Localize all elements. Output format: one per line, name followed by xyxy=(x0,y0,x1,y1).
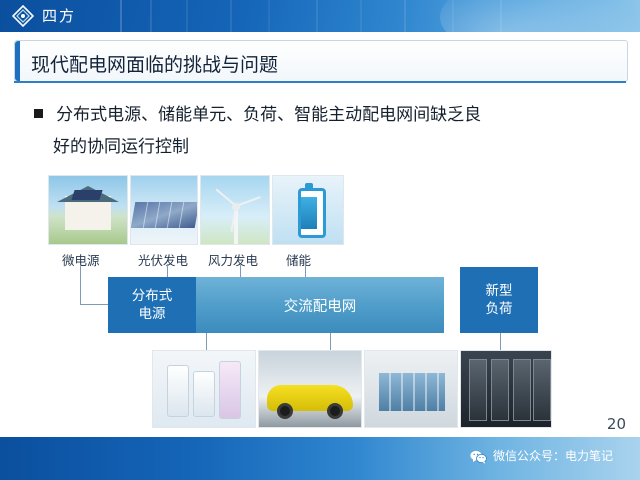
page-number: 20 xyxy=(607,415,626,433)
title-accent-bar xyxy=(15,41,20,81)
bottom-photo-strip xyxy=(152,350,552,428)
connector-wind-down xyxy=(240,264,241,277)
diagram-block-distributed-source: 分布式 电源 xyxy=(108,277,196,333)
diagram-right-line2: 负荷 xyxy=(486,300,513,318)
electric-car-photo xyxy=(258,350,362,428)
wechat-icon xyxy=(470,449,487,463)
diagram-right-line1: 新型 xyxy=(486,282,513,300)
square-bullet-icon xyxy=(34,109,43,118)
connector-mid-down-a xyxy=(206,333,207,350)
bullet-line: 分布式电源、储能单元、负荷、智能主动配电网间缺乏良 xyxy=(34,100,614,130)
watermark: 微信公众号：电力笔记 xyxy=(470,447,613,464)
caption-storage: 储能 xyxy=(286,250,311,269)
connector-pv-down xyxy=(167,264,168,277)
diagram-left-line2: 电源 xyxy=(132,305,173,323)
diagram-left-line1: 分布式 xyxy=(132,287,173,305)
top-photo-strip xyxy=(48,175,344,245)
inverter-appliance-photo xyxy=(152,350,256,428)
title-underline xyxy=(14,81,626,83)
slide: 四方 现代配电网面临的挑战与问题 分布式电源、储能单元、负荷、智能主动配电网间缺… xyxy=(0,0,640,480)
diagram-block-new-load: 新型 负荷 xyxy=(460,267,538,333)
battery-photo xyxy=(272,175,344,245)
power-equipment-photo xyxy=(364,350,458,428)
connector-vertical-left xyxy=(80,266,81,304)
connector-horizontal-left xyxy=(80,304,108,305)
connector-mid-down-b xyxy=(330,333,331,350)
diagram-block-ac-distribution-network: 交流配电网 xyxy=(196,277,444,333)
bullet-text-line1: 分布式电源、储能单元、负荷、智能主动配电网间缺乏良 xyxy=(56,105,481,125)
solar-panel-photo xyxy=(130,175,198,245)
page-title: 现代配电网面临的挑战与问题 xyxy=(31,50,278,77)
bullet-text-line2: 好的协同运行控制 xyxy=(53,132,189,157)
wind-turbine-photo xyxy=(200,175,270,245)
caption-wind: 风力发电 xyxy=(208,250,258,269)
caption-pv: 光伏发电 xyxy=(138,250,188,269)
top-banner: 四方 xyxy=(0,0,640,32)
page-title-box: 现代配电网面临的挑战与问题 xyxy=(14,40,628,82)
brand-name: 四方 xyxy=(42,5,76,26)
watermark-text: 微信公众号：电力笔记 xyxy=(493,447,613,464)
diamond-logo-icon xyxy=(12,5,34,27)
data-center-photo xyxy=(460,350,552,428)
connector-storage-down xyxy=(305,264,306,277)
connector-right-down xyxy=(500,333,501,350)
house-solar-photo xyxy=(48,175,128,245)
